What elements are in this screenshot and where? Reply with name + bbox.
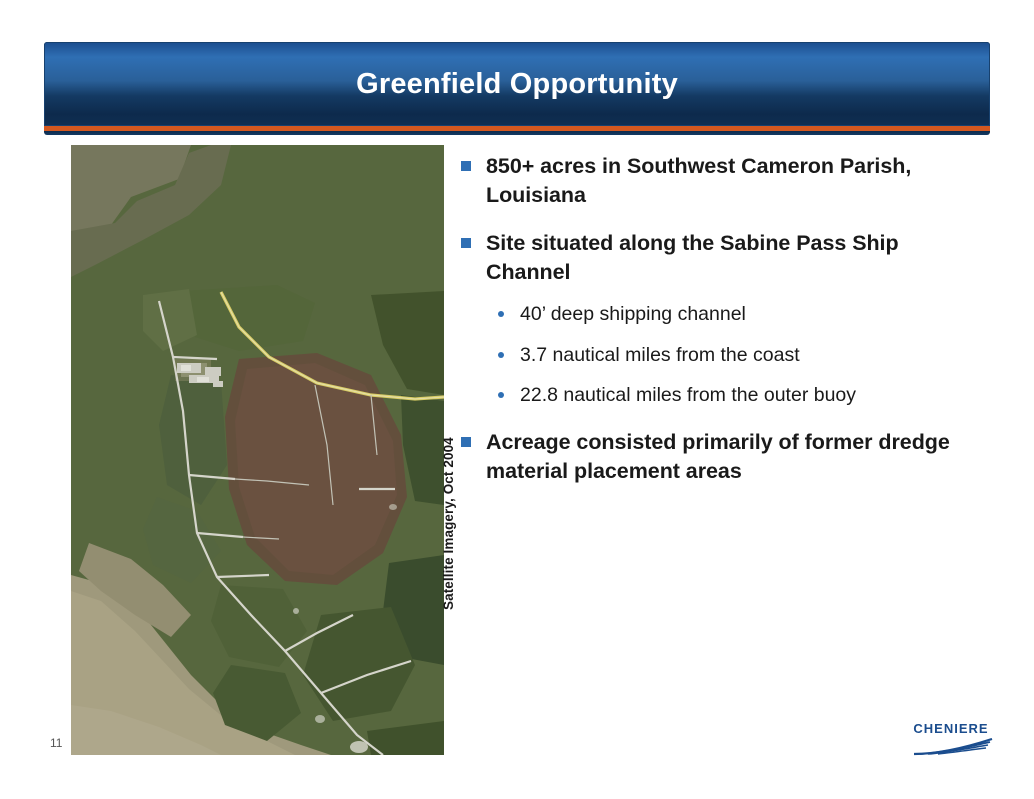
bullet-item: Acreage consisted primarily of former dr… <box>458 428 978 485</box>
square-bullet-icon <box>461 238 471 248</box>
bullet-text: Site situated along the Sabine Pass Ship… <box>486 231 899 284</box>
sub-bullet-text: 3.7 nautical miles from the coast <box>520 344 800 366</box>
square-bullet-icon <box>461 161 471 171</box>
bullet-text: 850+ acres in Southwest Cameron Parish, … <box>486 154 911 207</box>
sub-bullet-text: 22.8 nautical miles from the outer buoy <box>520 384 856 406</box>
slide-canvas: Greenfield Opportunity <box>0 0 1034 799</box>
round-bullet-icon <box>498 352 504 358</box>
round-bullet-icon <box>498 311 504 317</box>
logo-wordmark: CHENIERE <box>906 721 996 736</box>
sub-bullet-text: 40’ deep shipping channel <box>520 303 746 325</box>
satellite-image <box>71 145 444 755</box>
square-bullet-icon <box>461 437 471 447</box>
sub-bullet-item: 40’ deep shipping channel <box>458 302 978 327</box>
round-bullet-icon <box>498 392 504 398</box>
page-number: 11 <box>50 736 62 750</box>
bullet-list: 850+ acres in Southwest Cameron Parish, … <box>458 152 978 499</box>
bullet-text: Acreage consisted primarily of former dr… <box>486 430 950 483</box>
logo-swoosh-icon <box>906 738 996 756</box>
title-bottom-bar <box>44 131 990 135</box>
cheniere-logo: CHENIERE <box>906 721 996 761</box>
slide-title-bar: Greenfield Opportunity <box>44 42 990 126</box>
page-title: Greenfield Opportunity <box>44 42 990 126</box>
sub-bullet-group: 40’ deep shipping channel 3.7 nautical m… <box>458 302 978 408</box>
sub-bullet-item: 22.8 nautical miles from the outer buoy <box>458 383 978 408</box>
bullet-item: 850+ acres in Southwest Cameron Parish, … <box>458 152 978 209</box>
bullet-item: Site situated along the Sabine Pass Ship… <box>458 229 978 286</box>
sub-bullet-item: 3.7 nautical miles from the coast <box>458 343 978 368</box>
satellite-image-graphic <box>71 145 444 755</box>
